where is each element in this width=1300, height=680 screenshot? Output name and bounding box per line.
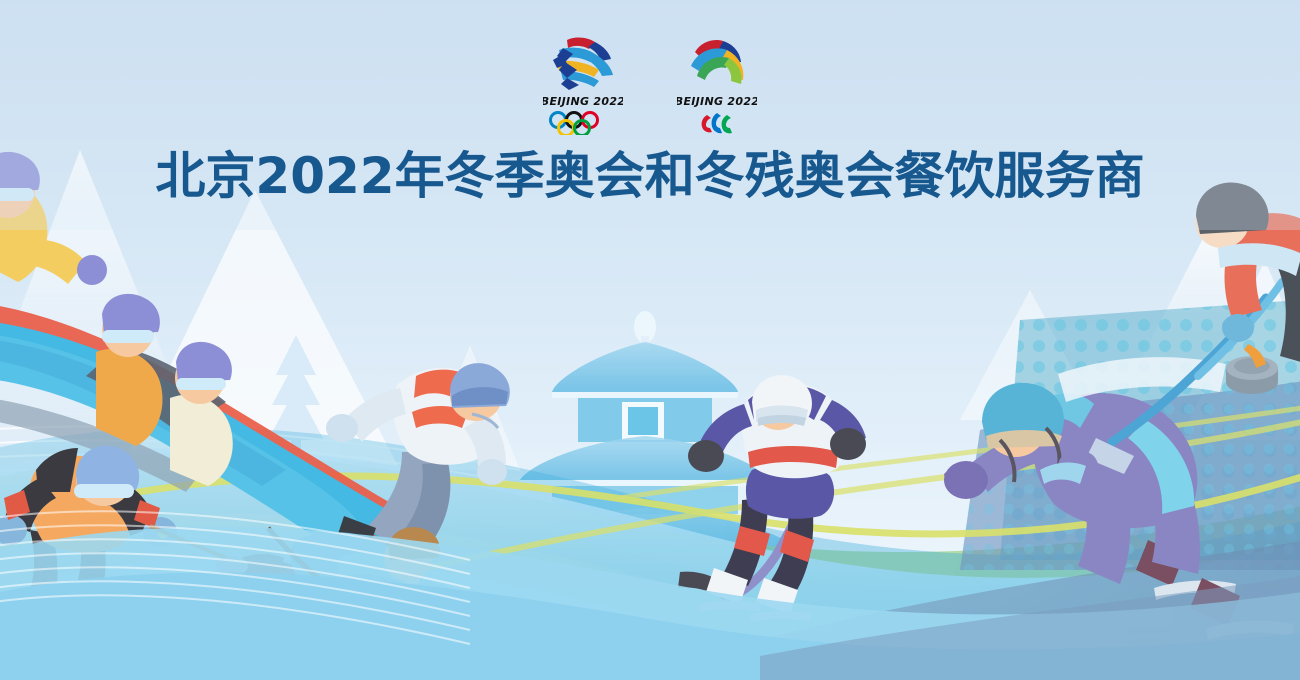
olympic-banner: BEIJING 2022 — [0, 0, 1300, 680]
paralympic-emblem-mark — [671, 32, 763, 90]
paralympic-wordmark: BEIJING 2022 — [677, 93, 757, 107]
paralympic-wordmark-text: BEIJING 2022 — [677, 95, 757, 107]
page-title: 北京2022年冬季奥会和冬残奥会餐饮服务商 — [0, 147, 1300, 205]
bobsleigh-athlete-3 — [170, 342, 233, 486]
olympic-wordmark: BEIJING 2022 — [543, 93, 623, 107]
olympic-wordmark-text: BEIJING 2022 — [543, 95, 623, 107]
beijing-2022-paralympic-emblem: BEIJING 2022 — [669, 32, 765, 135]
bobsleigh-athlete-2 — [96, 294, 163, 446]
olympic-rings-icon — [544, 111, 622, 135]
olympic-emblem-mark — [537, 32, 629, 90]
beijing-2022-olympic-emblem: BEIJING 2022 — [535, 32, 631, 135]
emblem-row: BEIJING 2022 — [0, 32, 1300, 135]
agitos-icon — [678, 111, 756, 135]
